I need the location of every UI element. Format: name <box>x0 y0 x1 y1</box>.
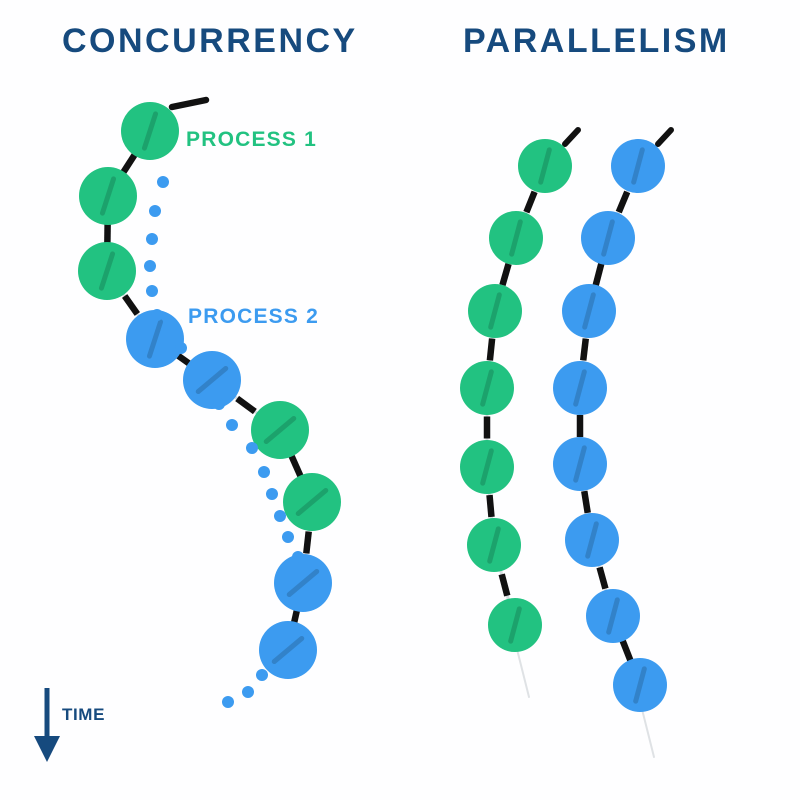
concurrency-bead-6-process-1 <box>251 401 309 459</box>
concurrency-chain <box>78 102 341 679</box>
concurrency-bead-2-process-1 <box>79 167 137 225</box>
lane-green-bead-3 <box>468 284 522 338</box>
lane-green-lead-stub <box>565 130 578 144</box>
legend-label-process-1: PROCESS 1 <box>186 128 317 152</box>
connector-dash-lane-green-5 <box>490 495 492 517</box>
time-arrow-icon <box>34 688 60 762</box>
concurrency-trail-dot-15 <box>292 551 304 563</box>
lane-green-bead-5 <box>460 440 514 494</box>
connector-dash-3 <box>125 296 138 314</box>
lane-blue-bead-7 <box>586 589 640 643</box>
concurrency-bead-5-process-2 <box>183 351 241 409</box>
concurrency-trail-dot-8 <box>213 398 225 410</box>
lane-blue-bead-8 <box>613 658 667 712</box>
page-title-concurrency: CONCURRENCY <box>62 22 358 61</box>
concurrency-trail-dot-6 <box>151 309 163 321</box>
connector-dash-lane-blue-5 <box>584 491 587 513</box>
concurrency-trail-dot-9 <box>226 419 238 431</box>
connector-dash-lane-blue-3 <box>583 339 586 361</box>
connector-dash-lane-green-3 <box>490 339 492 361</box>
concurrency-bead-8-process-2 <box>274 554 332 612</box>
lane-green-bead-2 <box>489 211 543 265</box>
connector-dash-lane-green-1 <box>526 192 534 212</box>
concurrency-bead-1-process-1 <box>121 102 179 160</box>
concurrency-trail-dot-17 <box>242 686 254 698</box>
concurrency-trail-dot-10 <box>246 442 258 454</box>
connector-dash-lane-blue-6 <box>600 567 606 588</box>
connector-dash-lane-blue-7 <box>622 640 630 660</box>
connector-dash-1 <box>123 154 135 172</box>
concurrency-bead-3-process-1 <box>78 242 136 300</box>
connector-dash-lane-blue-2 <box>596 264 602 285</box>
lane-green-bead-1 <box>518 139 572 193</box>
concurrency-trail-dot-14 <box>282 531 294 543</box>
lane-blue-bead-4 <box>553 361 607 415</box>
connector-dash-lane-green-6 <box>502 574 508 595</box>
legend-label-process-2: PROCESS 2 <box>188 305 319 329</box>
lane-green-bead-4 <box>460 361 514 415</box>
concurrency-trail-dot-12 <box>266 488 278 500</box>
lane-green-bead-7 <box>488 598 542 652</box>
diagram-graphics <box>0 0 800 800</box>
time-arrow-head <box>34 736 60 762</box>
concurrency-lead-stub <box>172 100 206 107</box>
connector-dash-6 <box>292 456 301 476</box>
lane-blue-bead-3 <box>562 284 616 338</box>
concurrency-bead-9-process-2 <box>259 621 317 679</box>
connector-dash-7 <box>306 532 308 554</box>
concurrency-trail-dot-11 <box>258 466 270 478</box>
page-title-parallelism: PARALLELISM <box>463 22 730 61</box>
lane-blue-bead-1 <box>611 139 665 193</box>
concurrency-bead-7-process-1 <box>283 473 341 531</box>
concurrency-trail-dot-16 <box>256 669 268 681</box>
concurrency-trail-dot-1 <box>157 176 169 188</box>
lane-blue-lead-stub <box>658 130 671 144</box>
concurrency-trail-dot-13 <box>274 510 286 522</box>
concurrency-trail-dot-4 <box>144 260 156 272</box>
concurrency-trail-dot-3 <box>146 233 158 245</box>
connector-dash-lane-blue-1 <box>619 192 627 212</box>
connector-dash-lane-green-2 <box>502 264 508 285</box>
diagram-canvas: CONCURRENCY PARALLELISM PROCESS 1 PROCES… <box>0 0 800 800</box>
lane-blue-bead-2 <box>581 211 635 265</box>
time-axis-label: TIME <box>62 705 105 725</box>
lane-blue-bead-5 <box>553 437 607 491</box>
concurrency-trail-dot-18 <box>222 696 234 708</box>
concurrency-trail-dot-2 <box>149 205 161 217</box>
concurrency-trail-dot-5 <box>146 285 158 297</box>
connector-dash-5 <box>237 398 255 411</box>
lane-green-bead-6 <box>467 518 521 572</box>
lane-blue-bead-6 <box>565 513 619 567</box>
parallelism-lanes <box>460 139 667 712</box>
concurrency-trail-dot-7 <box>175 342 187 354</box>
